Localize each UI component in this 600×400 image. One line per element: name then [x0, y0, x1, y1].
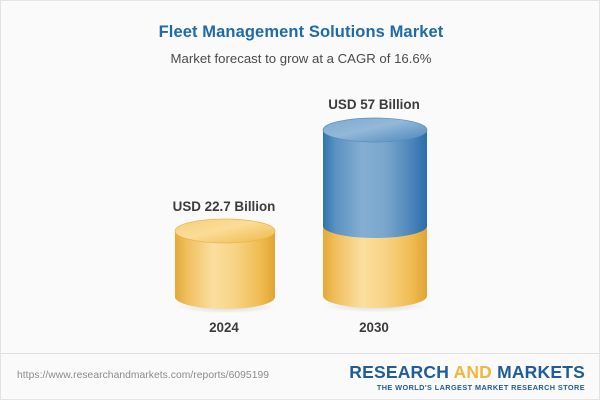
brand-wordmark: RESEARCH AND MARKETS [349, 362, 585, 382]
footer: https://www.researchandmarkets.com/repor… [1, 354, 600, 400]
brand-word-research: RESEARCH [349, 362, 449, 382]
bar-value-label-2030: USD 57 Billion [264, 97, 484, 112]
bar-cylinder-2024 [169, 218, 281, 312]
brand-word-markets: MARKETS [497, 362, 585, 382]
infographic-card: Fleet Management Solutions Market Market… [0, 0, 600, 400]
brand-logo: RESEARCH AND MARKETS THE WORLD'S LARGEST… [349, 362, 585, 392]
brand-word-and: AND [453, 362, 492, 382]
chart-plot-area: USD 22.7 Billion [1, 1, 600, 353]
bar-cylinder-2030 [317, 116, 433, 311]
brand-tagline: THE WORLD'S LARGEST MARKET RESEARCH STOR… [349, 383, 585, 392]
source-url-link[interactable]: https://www.researchandmarkets.com/repor… [17, 370, 269, 381]
bar-value-label-2024: USD 22.7 Billion [114, 199, 334, 214]
bar-category-label-2030: 2030 [264, 320, 484, 335]
